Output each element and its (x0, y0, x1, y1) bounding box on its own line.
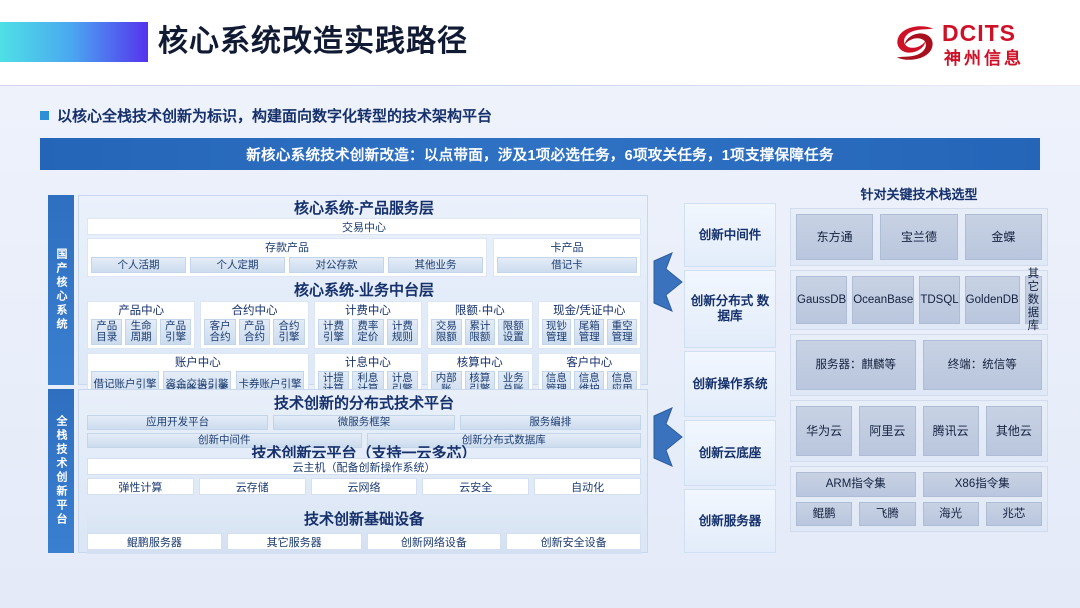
chip-tencent-cloud[interactable]: 腾讯云 (923, 406, 979, 456)
chip-product-catalog[interactable]: 产品目录 (91, 319, 122, 345)
chip-innovative-network-device[interactable]: 创新网络设备 (367, 533, 502, 550)
center-items: 现钞管理 尾箱管理 重空管理 (542, 319, 637, 345)
chip-cloud-security[interactable]: 云安全 (422, 478, 529, 495)
task-innovative-cloud-base[interactable]: 创新云底座 (684, 420, 776, 486)
product-service-layer-title: 核心系统-产品服务层 (79, 199, 649, 219)
center-items: 客户合约 产品合约 合约引擎 (204, 319, 304, 345)
stack-group-chips: ARM指令集 X86指令集 鲲鹏 飞腾 海光 兆芯 (790, 466, 1048, 532)
center-title: 账户中心 (91, 356, 305, 370)
chip-x86-instruction-set[interactable]: X86指令集 (923, 472, 1043, 497)
chip-lifecycle[interactable]: 生命周期 (125, 319, 156, 345)
chip-phytium[interactable]: 飞腾 (859, 502, 915, 527)
chip-billing-engine[interactable]: 计费引擎 (318, 319, 349, 345)
infrastructure-items: 鲲鹏服务器 其它服务器 创新网络设备 创新安全设备 (87, 533, 641, 550)
platform-row-1: 应用开发平台 微服务框架 服务编排 (87, 415, 641, 430)
center-title: 现金/凭证中心 (542, 304, 637, 318)
task-innovative-os[interactable]: 创新操作系统 (684, 351, 776, 417)
chip-personal-time[interactable]: 个人定期 (190, 257, 285, 273)
architecture-panel: 国产核心系统 全栈技术创新平台 核心系统-产品服务层 交易中心 存款产品 个人活… (48, 195, 648, 553)
header-divider (0, 85, 1080, 86)
chip-tdsql[interactable]: TDSQL (919, 276, 959, 324)
chip-baolande[interactable]: 宝兰德 (880, 214, 957, 260)
highlight-banner: 新核心系统技术创新改造：以点带面，涉及1项必选任务，6项攻关任务，1项支撑保障任… (40, 138, 1040, 170)
chip-important-blank-mgmt[interactable]: 重空管理 (607, 319, 637, 345)
section-subtitle: 以核心全栈技术创新为标识，构建面向数字化转型的技术架构平台 (40, 103, 492, 127)
chip-alibaba-cloud[interactable]: 阿里云 (859, 406, 915, 456)
stack-group-cloud: 华为云 阿里云 腾讯云 其他云 (790, 400, 1048, 462)
trade-center-bar: 交易中心 (87, 218, 641, 235)
slide-header: 核心系统改造实践路径 DCITS 神州信息 (0, 0, 1080, 86)
chip-product-contract[interactable]: 产品合约 (239, 319, 270, 345)
chip-cloud-network[interactable]: 云网络 (311, 478, 418, 495)
core-system-stack: 核心系统-产品服务层 交易中心 存款产品 个人活期 个人定期 对公存款 其他业务 (78, 195, 648, 385)
os-chips: 服务器：麒麟等 终端：统信等 (791, 335, 1047, 395)
center-product: 产品中心 产品目录 生命周期 产品引擎 (87, 301, 195, 349)
chip-elastic-compute[interactable]: 弹性计算 (87, 478, 194, 495)
group-items: 个人活期 个人定期 对公存款 其他业务 (91, 257, 483, 273)
chip-other-database[interactable]: 其它数据库 (1025, 276, 1042, 324)
business-layer-title: 核心系统-业务中台层 (79, 281, 649, 301)
dcits-swirl-icon (894, 22, 936, 64)
product-groups: 存款产品 个人活期 个人定期 对公存款 其他业务 卡产品 借记卡 (87, 238, 641, 277)
header-accent-bar (0, 22, 148, 62)
center-contract: 合约中心 客户合约 产品合约 合约引擎 (200, 301, 308, 349)
chip-cloud-host[interactable]: 云主机（配备创新操作系统） (87, 458, 641, 475)
chip-contract-engine[interactable]: 合约引擎 (273, 319, 304, 345)
center-title: 产品中心 (91, 304, 191, 318)
slide-root: 核心系统改造实践路径 DCITS 神州信息 以核心全栈技术创新为标识，构建面向数… (0, 0, 1080, 608)
center-title: 计息中心 (318, 356, 418, 370)
chip-personal-demand[interactable]: 个人活期 (91, 257, 186, 273)
chip-terminal-uos[interactable]: 终端：统信等 (923, 340, 1043, 390)
chip-hygon[interactable]: 海光 (923, 502, 979, 527)
task-innovative-middleware[interactable]: 创新中间件 (684, 203, 776, 267)
page-title: 核心系统改造实践路径 (158, 20, 468, 64)
stack-group-database: GaussDB OceanBase TDSQL GoldenDB 其它数据库 (790, 270, 1048, 330)
chip-teller-box-mgmt[interactable]: 尾箱管理 (574, 319, 604, 345)
chip-app-dev-platform[interactable]: 应用开发平台 (87, 415, 268, 430)
chip-service-orchestration[interactable]: 服务编排 (460, 415, 641, 430)
chip-cloud-storage[interactable]: 云存储 (199, 478, 306, 495)
chip-other-business[interactable]: 其他业务 (388, 257, 483, 273)
chip-groups: ARM指令集 X86指令集 鲲鹏 飞腾 海光 兆芯 (791, 467, 1047, 531)
chip-kingdee[interactable]: 金蝶 (965, 214, 1042, 260)
product-group-deposit: 存款产品 个人活期 个人定期 对公存款 其他业务 (87, 238, 487, 277)
chip-zhaoxin[interactable]: 兆芯 (986, 502, 1042, 527)
stack-group-os: 服务器：麒麟等 终端：统信等 (790, 334, 1048, 396)
center-title: 限额·中心 (431, 304, 528, 318)
infrastructure-band: 技术创新基础设备 鲲鹏服务器 其它服务器 创新网络设备 创新安全设备 (87, 508, 641, 554)
center-items: 交易限额 累计限额 限额设置 (431, 319, 528, 345)
bullet-square-icon (40, 111, 49, 120)
tech-platform-stack: 技术创新的分布式技术平台 应用开发平台 微服务框架 服务编排 创新中间件 创新分… (78, 389, 648, 553)
chip-other-cloud[interactable]: 其他云 (986, 406, 1042, 456)
chip-arm-instruction-set[interactable]: ARM指令集 (796, 472, 916, 497)
flow-arrow-lower-icon (652, 398, 686, 476)
business-row-1: 产品中心 产品目录 生命周期 产品引擎 合约中心 客户合约 产品合约 合约引擎 (87, 301, 641, 349)
chip-debit-card[interactable]: 借记卡 (497, 257, 637, 273)
product-group-card: 卡产品 借记卡 (493, 238, 641, 277)
chip-cash-mgmt[interactable]: 现钞管理 (542, 319, 572, 345)
center-title: 合约中心 (204, 304, 304, 318)
chip-kunpeng-server[interactable]: 鲲鹏服务器 (87, 533, 222, 550)
task-innovative-distributed-database[interactable]: 创新分布式 数据库 (684, 270, 776, 348)
center-cash-voucher: 现金/凭证中心 现钞管理 尾箱管理 重空管理 (538, 301, 641, 349)
instruction-set-row: ARM指令集 X86指令集 (796, 472, 1042, 497)
infrastructure-layer: 技术创新基础设备 鲲鹏服务器 其它服务器 创新网络设备 创新安全设备 (87, 508, 641, 554)
chip-automation[interactable]: 自动化 (534, 478, 641, 495)
distributed-tech-platform: 应用开发平台 微服务框架 服务编排 创新中间件 创新分布式数据库 (87, 412, 641, 448)
chip-gaussdb[interactable]: GaussDB (796, 276, 847, 324)
vertical-label-core-system: 国产核心系统 (48, 195, 74, 385)
middleware-chips: 东方通 宝兰德 金蝶 (791, 209, 1047, 265)
chip-goldendb[interactable]: GoldenDB (965, 276, 1020, 324)
tech-stack-title: 针对关键技术栈选型 (790, 186, 1048, 204)
cloud-platform: 云主机（配备创新操作系统） 弹性计算 云存储 云网络 云安全 自动化 (87, 458, 641, 495)
group-label: 卡产品 (497, 241, 637, 255)
chip-rate-pricing[interactable]: 费率定价 (352, 319, 383, 345)
tech-stack-selection: 针对关键技术栈选型 东方通 宝兰德 金蝶 GaussDB OceanBase T… (790, 186, 1048, 553)
stack-group-middleware: 东方通 宝兰德 金蝶 (790, 208, 1048, 266)
chip-customer-contract[interactable]: 客户合约 (204, 319, 235, 345)
infrastructure-title: 技术创新基础设备 (87, 510, 641, 530)
group-items: 借记卡 (497, 257, 637, 273)
center-title: 计费中心 (318, 304, 418, 318)
chip-oceanbase[interactable]: OceanBase (852, 276, 914, 324)
product-service-layer: 交易中心 存款产品 个人活期 个人定期 对公存款 其他业务 卡产品 (87, 218, 641, 278)
chip-other-server[interactable]: 其它服务器 (227, 533, 362, 550)
chip-kunpeng[interactable]: 鲲鹏 (796, 502, 852, 527)
chip-corporate-deposit[interactable]: 对公存款 (289, 257, 384, 273)
logo-text-cn: 神州信息 (944, 44, 1024, 69)
logo-text-en: DCITS (942, 20, 1016, 47)
center-limit: 限额·中心 交易限额 累计限额 限额设置 (427, 301, 532, 349)
center-billing: 计费中心 计费引擎 费率定价 计费规则 (314, 301, 422, 349)
chip-product-engine[interactable]: 产品引擎 (160, 319, 191, 345)
center-title: 客户中心 (542, 356, 638, 370)
chip-billing-rules[interactable]: 计费规则 (387, 319, 418, 345)
database-chips: GaussDB OceanBase TDSQL GoldenDB 其它数据库 (791, 271, 1047, 329)
subtitle-text: 以核心全栈技术创新为标识，构建面向数字化转型的技术架构平台 (57, 105, 492, 126)
chip-dongfangtong[interactable]: 东方通 (796, 214, 873, 260)
group-label: 存款产品 (91, 241, 483, 255)
task-column: 创新中间件 创新分布式 数据库 创新操作系统 创新云底座 创新服务器 (684, 203, 776, 553)
chip-microservice-framework[interactable]: 微服务框架 (273, 415, 454, 430)
cloud-items: 弹性计算 云存储 云网络 云安全 自动化 (87, 478, 641, 495)
distributed-tech-platform-title: 技术创新的分布式技术平台 (79, 394, 649, 414)
center-items: 产品目录 生命周期 产品引擎 (91, 319, 191, 345)
chip-vendor-row: 鲲鹏 飞腾 海光 兆芯 (796, 502, 1042, 527)
task-innovative-server[interactable]: 创新服务器 (684, 489, 776, 553)
chip-innovative-security-device[interactable]: 创新安全设备 (506, 533, 641, 550)
cloud-chips: 华为云 阿里云 腾讯云 其他云 (791, 401, 1047, 461)
dcits-logo: DCITS 神州信息 (894, 18, 1044, 68)
chip-trade-limit[interactable]: 交易限额 (431, 319, 461, 345)
vertical-label-tech-platform: 全栈技术创新平台 (48, 389, 74, 553)
center-items: 计费引擎 费率定价 计费规则 (318, 319, 418, 345)
chip-limit-setting[interactable]: 限额设置 (498, 319, 528, 345)
chip-server-kylin[interactable]: 服务器：麒麟等 (796, 340, 916, 390)
chip-cumulative-limit[interactable]: 累计限额 (465, 319, 495, 345)
center-title: 核算中心 (431, 356, 528, 370)
chip-huawei-cloud[interactable]: 华为云 (796, 406, 852, 456)
flow-arrow-upper-icon (652, 243, 686, 321)
banner-text: 新核心系统技术创新改造：以点带面，涉及1项必选任务，6项攻关任务，1项支撑保障任… (246, 144, 834, 165)
business-middle-layer: 产品中心 产品目录 生命周期 产品引擎 合约中心 客户合约 产品合约 合约引擎 (87, 301, 641, 379)
